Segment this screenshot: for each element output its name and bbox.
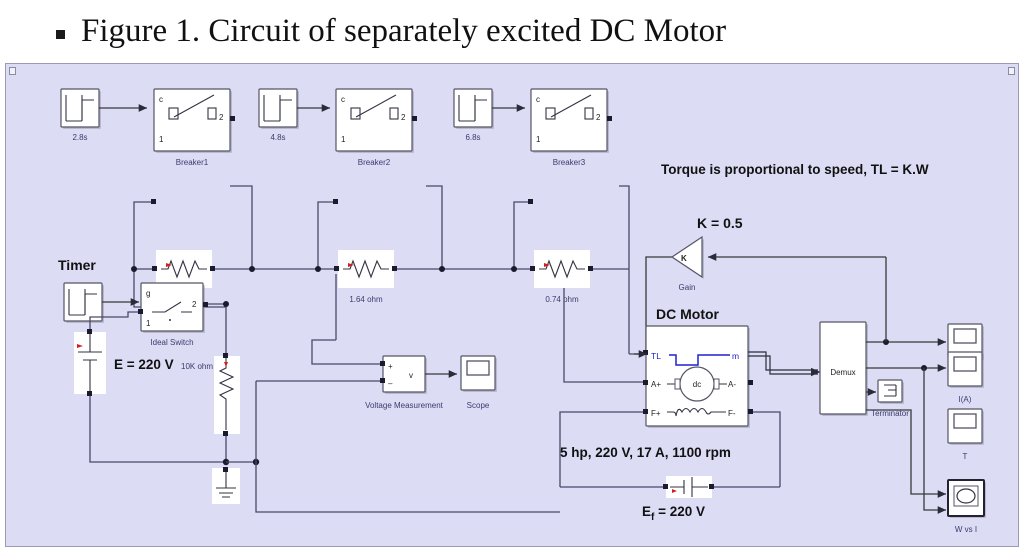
dc-motor-title: DC Motor bbox=[656, 306, 720, 322]
breaker-2-port-c: c bbox=[341, 95, 345, 104]
ideal-switch-port-2: 2 bbox=[192, 300, 197, 309]
dc-motor-port-m: m bbox=[732, 351, 739, 361]
simulink-canvas[interactable]: 2.8s 4.8s 6.8s bbox=[5, 63, 1019, 547]
step-source-2[interactable]: 4.8s bbox=[259, 89, 299, 142]
resistor-3[interactable]: 0.74 ohm bbox=[530, 250, 593, 304]
square-bullet-icon bbox=[56, 30, 65, 39]
terminator-block[interactable]: Terminator bbox=[871, 380, 909, 418]
breaker-1-port-1: 1 bbox=[159, 135, 164, 144]
dc-motor-port-f-minus: F- bbox=[728, 409, 736, 418]
scope-i[interactable]: I(A) bbox=[948, 352, 984, 404]
dc-motor-port-tl: TL bbox=[651, 351, 661, 361]
breaker-2-port-1: 1 bbox=[341, 135, 346, 144]
ideal-switch-label: Ideal Switch bbox=[150, 338, 193, 347]
resistor-3-label: 0.74 ohm bbox=[545, 295, 579, 304]
resistor-10k[interactable] bbox=[214, 353, 240, 436]
ideal-switch-port-1: 1 bbox=[146, 319, 151, 328]
breaker-1-label: Breaker1 bbox=[176, 158, 209, 167]
terminator-label: Terminator bbox=[871, 409, 909, 418]
step-source-1[interactable]: 2.8s bbox=[61, 89, 101, 142]
resistor-10k-label: 10K ohm bbox=[181, 362, 213, 371]
breaker-3-port-2: 2 bbox=[596, 113, 601, 122]
selection-handle-top-left[interactable] bbox=[9, 67, 16, 75]
step-source-3[interactable]: 6.8s bbox=[454, 89, 494, 142]
slide-title-row: Figure 1. Circuit of separately excited … bbox=[0, 0, 1024, 62]
breaker-3-port-c: c bbox=[536, 95, 540, 104]
dc-motor-port-a-minus: A- bbox=[728, 380, 736, 389]
scope-main[interactable]: Scope bbox=[461, 356, 497, 410]
field-source-label: Ef = 220 V bbox=[642, 504, 705, 523]
ground-block[interactable] bbox=[212, 467, 240, 504]
timer-label: Timer bbox=[58, 257, 96, 273]
motor-rating-label: 5 hp, 220 V, 17 A, 1100 rpm bbox=[560, 445, 731, 460]
page-title: Figure 1. Circuit of separately excited … bbox=[81, 13, 726, 49]
field-source-main: E bbox=[642, 504, 651, 519]
gain-label: Gain bbox=[679, 283, 696, 292]
demux-label: Demux bbox=[830, 368, 855, 377]
scope-wvsi-label: W vs I bbox=[955, 525, 977, 534]
breaker-3-label: Breaker3 bbox=[553, 158, 586, 167]
voltage-measurement-out: v bbox=[409, 371, 413, 380]
demux-block[interactable]: Demux bbox=[820, 322, 868, 416]
breaker-1[interactable]: c 1 2 Breaker1 bbox=[151, 89, 235, 204]
gain-block[interactable]: K Gain bbox=[672, 237, 704, 292]
step-source-1-label: 2.8s bbox=[72, 133, 87, 142]
breaker-2-port-2: 2 bbox=[401, 113, 406, 122]
source-E-label: E = 220 V bbox=[114, 357, 174, 372]
breaker-1-port-2: 2 bbox=[219, 113, 224, 122]
step-source-3-label: 6.8s bbox=[465, 133, 480, 142]
dc-motor-block[interactable]: TL m dc A+ A- F+ F- bbox=[643, 326, 753, 428]
gain-symbol: K bbox=[681, 254, 687, 263]
dc-motor-center-text: dc bbox=[693, 380, 701, 389]
torque-note: Torque is proportional to speed, TL = K.… bbox=[661, 162, 929, 177]
dc-source-Ef[interactable] bbox=[663, 476, 714, 498]
dc-motor-port-f-plus: F+ bbox=[651, 409, 661, 418]
voltage-measurement-plus: + bbox=[388, 362, 393, 371]
ideal-switch[interactable]: g 1 2 Ideal Switch bbox=[138, 283, 208, 347]
resistor-2-label: 1.64 ohm bbox=[349, 295, 383, 304]
ideal-switch-port-g: g bbox=[146, 289, 150, 298]
dc-motor-port-a-plus: A+ bbox=[651, 380, 661, 389]
step-source-2-label: 4.8s bbox=[270, 133, 285, 142]
scope-t[interactable]: T bbox=[948, 409, 984, 461]
breaker-2-label: Breaker2 bbox=[358, 158, 391, 167]
scope-wvsi[interactable]: W vs I bbox=[948, 480, 986, 534]
resistor-2[interactable]: 1.64 ohm bbox=[334, 250, 397, 304]
breaker-3-port-1: 1 bbox=[536, 135, 541, 144]
scope-i-label: I(A) bbox=[959, 395, 972, 404]
field-source-rest: = 220 V bbox=[654, 504, 705, 519]
breaker-3[interactable]: c 1 2 Breaker3 bbox=[528, 89, 612, 204]
gain-note: K = 0.5 bbox=[697, 215, 743, 231]
scope-main-label: Scope bbox=[467, 401, 490, 410]
dc-source-E[interactable] bbox=[74, 329, 106, 396]
breaker-1-port-c: c bbox=[159, 95, 163, 104]
selection-handle-top-right[interactable] bbox=[1008, 67, 1015, 75]
slide: Figure 1. Circuit of separately excited … bbox=[0, 0, 1024, 553]
scope-t-label: T bbox=[963, 452, 968, 461]
voltage-measurement-label: Voltage Measurement bbox=[365, 401, 444, 410]
breaker-2[interactable]: c 1 2 Breaker2 bbox=[333, 89, 417, 204]
voltage-measurement-minus: – bbox=[388, 379, 393, 388]
